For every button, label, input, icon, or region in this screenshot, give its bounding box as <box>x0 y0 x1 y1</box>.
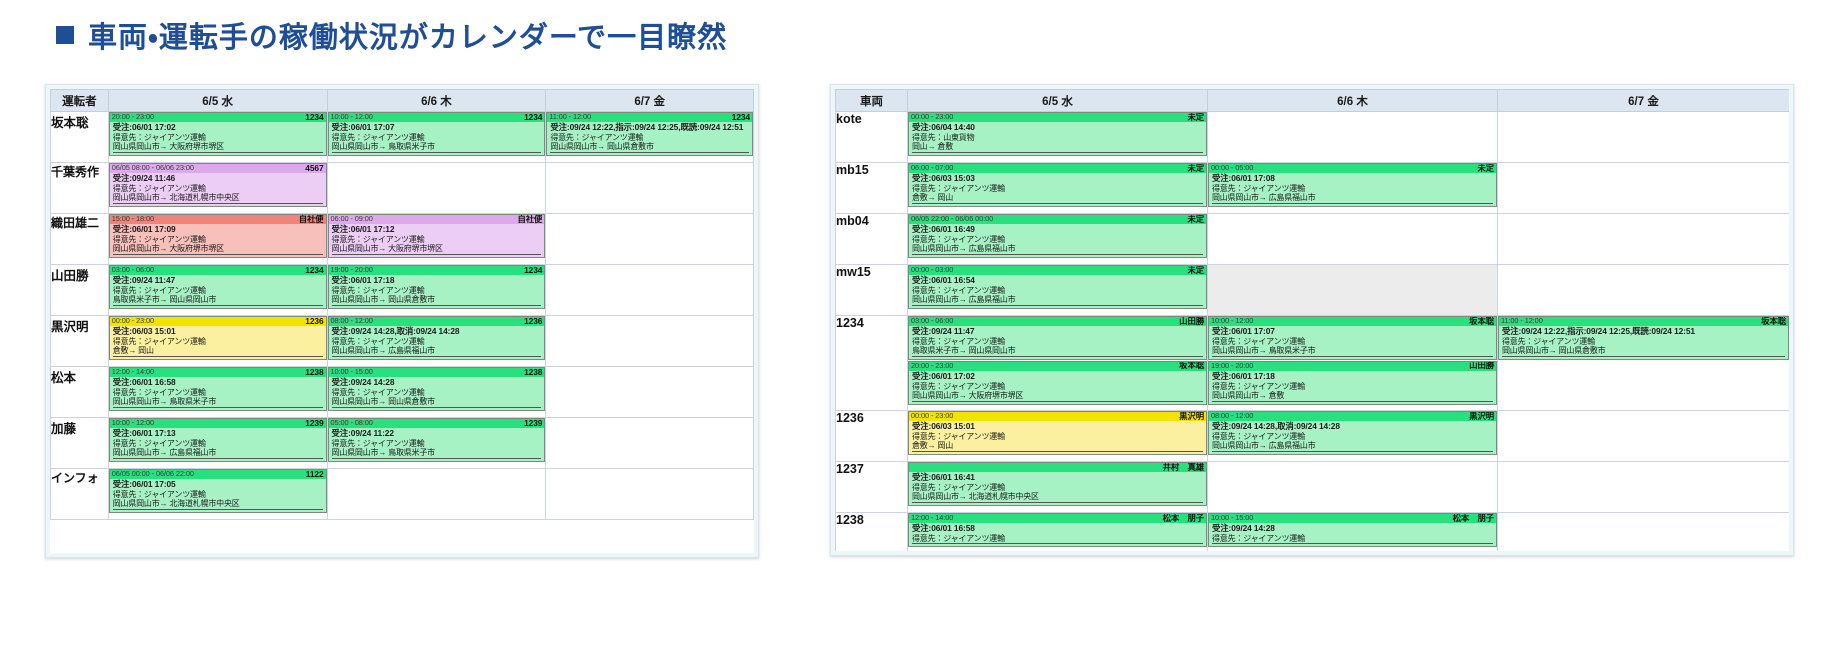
calendar-event[interactable]: 20:00 - 23:001234受注:06/01 17:02得意先：ジャイアン… <box>109 112 327 156</box>
vehicle-day-cell[interactable] <box>1208 214 1498 265</box>
event-body: 受注:09/24 14:28,取消:09/24 14:28得意先：ジャイアンツ運… <box>1209 421 1496 454</box>
event-order-info: 受注:09/24 12:22,指示:09/24 12:25,既読:09/24 1… <box>550 123 749 133</box>
event-route: 岡山県岡山市→ 岡山県倉敷市 <box>550 142 749 152</box>
event-header: 20:00 - 23:001234 <box>110 113 326 122</box>
event-body: 受注:06/01 16:49得意先：ジャイアンツ運輸岡山県岡山市→ 広島県福山市 <box>909 224 1206 257</box>
vehicle-day-cell[interactable] <box>1208 265 1498 316</box>
event-order-info: 受注:06/01 17:07 <box>1212 327 1493 337</box>
driver-day-cell[interactable]: 10:00 - 12:001234受注:06/01 17:07得意先：ジャイアン… <box>327 112 546 163</box>
event-body: 受注:06/01 17:13得意先：ジャイアンツ運輸岡山県岡山市→ 広島県福山市 <box>110 428 326 461</box>
calendar-event[interactable]: 03:00 - 06:001234受注:09/24 11:47得意先：ジャイアン… <box>109 265 327 309</box>
event-time-range: 06/05 00:00 - 06/06 22:00 <box>112 470 194 479</box>
event-body: 受注:06/01 16:58得意先：ジャイアンツ運輸岡山県岡山市→ 鳥取県米子市 <box>110 377 326 410</box>
event-customer: 得意先：ジャイアンツ運輸 <box>113 133 323 142</box>
event-body: 受注:09/24 14:28,取消:09/24 14:28得意先：ジャイアンツ運… <box>329 326 545 359</box>
event-route: 岡山県岡山市→ 岡山県倉敷市 <box>332 397 542 407</box>
driver-calendar-panel: 運転者 6/5 水 6/6 木 6/7 金 坂本聡20:00 - 23:0012… <box>45 84 759 558</box>
event-body: 受注:09/24 12:22,指示:09/24 12:25,既読:09/24 1… <box>1499 326 1788 359</box>
event-order-info: 受注:09/24 14:28 <box>1212 524 1493 534</box>
vehicle-day-cell[interactable]: 00:00 - 03:00未定受注:06/01 16:54得意先：ジャイアンツ運… <box>908 265 1208 316</box>
table-row[interactable]: 123600:00 - 23:00黒沢明受注:06/03 15:01得意先：ジャ… <box>836 411 1790 462</box>
event-order-info: 受注:06/01 16:58 <box>113 378 323 388</box>
driver-day-cell[interactable] <box>546 316 754 367</box>
vehicle-day-cell[interactable]: 00:00 - 05:00未定受注:06/01 17:08得意先：ジャイアンツ運… <box>1208 163 1498 214</box>
driver-name-cell[interactable]: 坂本聡 <box>51 112 109 163</box>
table-row[interactable]: 黒沢明00:00 - 23:001236受注:06/03 15:01得意先：ジャ… <box>51 316 754 367</box>
event-tag: 1236 <box>524 317 542 327</box>
calendar-event[interactable]: 10:00 - 12:00坂本聡受注:06/01 17:07得意先：ジャイアンツ… <box>1208 316 1497 360</box>
event-body: 受注:06/01 17:09得意先：ジャイアンツ運輸岡山県岡山市→ 大阪府堺市堺… <box>110 224 326 257</box>
event-tag: 4567 <box>305 164 323 174</box>
event-route: 岡山県岡山市→ 鳥取県米子市 <box>113 397 323 407</box>
driver-calendar-table: 運転者 6/5 水 6/6 木 6/7 金 坂本聡20:00 - 23:0012… <box>50 89 754 520</box>
event-customer: 得意先：ジャイアンツ運輸 <box>332 439 542 448</box>
event-route: 岡山県岡山市→ 広島県福山市 <box>912 244 1203 254</box>
event-header: 06:00 - 07:00未定 <box>909 164 1206 173</box>
event-header: 05:00 - 08:001239 <box>329 419 545 428</box>
event-body: 受注:06/01 17:08得意先：ジャイアンツ運輸岡山県岡山市→ 広島県福山市 <box>1209 173 1496 206</box>
calendar-event[interactable]: 06:00 - 09:00自社便受注:06/01 17:12得意先：ジャイアンツ… <box>328 214 546 258</box>
calendar-event[interactable]: 11:00 - 12:00坂本聡受注:09/24 12:22,指示:09/24 … <box>1498 316 1789 360</box>
event-route: 鳥取県米子市→ 岡山県岡山市 <box>912 346 1203 356</box>
calendar-event[interactable]: 10:00 - 12:001239受注:06/01 17:13得意先：ジャイアン… <box>109 418 327 462</box>
event-route: 岡山県岡山市→ 大阪府堺市堺区 <box>113 142 323 152</box>
table-row[interactable]: 加藤10:00 - 12:001239受注:06/01 17:13得意先：ジャイ… <box>51 418 754 469</box>
event-route: 岡山県岡山市→ 岡山県倉敷市 <box>1502 346 1785 356</box>
event-tag: 井村 真雄 <box>1163 463 1204 473</box>
calendar-event[interactable]: 05:00 - 08:001239受注:09/24 11:22得意先：ジャイアン… <box>328 418 546 462</box>
event-time-range: 10:00 - 12:00 <box>1211 317 1253 326</box>
event-order-info: 受注:09/24 11:46 <box>113 174 323 184</box>
vehicle-table-header-row: 車両 6/5 水 6/6 木 6/7 金 <box>836 90 1790 112</box>
event-route: 岡山県岡山市→ 広島県福山市 <box>113 448 323 458</box>
event-route: 岡山県岡山市→ 広島県福山市 <box>332 346 542 356</box>
driver-day-cell[interactable]: 06/05 08:00 - 06/06 23:004567受注:09/24 11… <box>108 163 327 214</box>
event-customer: 得意先：ジャイアンツ運輸 <box>912 337 1203 346</box>
event-header: 12:00 - 14:001238 <box>110 368 326 377</box>
driver-table-body: 坂本聡20:00 - 23:001234受注:06/01 17:02得意先：ジャ… <box>51 112 754 520</box>
event-route: 岡山県岡山市→ 鳥取県米子市 <box>332 142 542 152</box>
event-order-info: 受注:06/03 15:03 <box>912 174 1203 184</box>
table-row[interactable]: 山田勝03:00 - 06:001234受注:09/24 11:47得意先：ジャ… <box>51 265 754 316</box>
calendar-event[interactable]: 06/05 08:00 - 06/06 23:004567受注:09/24 11… <box>109 163 327 207</box>
event-tag: 坂本聡 <box>1469 317 1494 327</box>
vehicle-name-cell[interactable]: mb15 <box>836 163 908 214</box>
calendar-event[interactable]: 11:00 - 12:001234受注:09/24 12:22,指示:09/24… <box>546 112 753 156</box>
table-row[interactable]: mb1506:00 - 07:00未定受注:06/03 15:03得意先：ジャイ… <box>836 163 1790 214</box>
calendar-event[interactable]: 06/05 22:00 - 06/06 00:00未定受注:06/01 16:4… <box>908 214 1207 258</box>
driver-name-cell[interactable]: 織田雄二 <box>51 214 109 265</box>
event-header: 10:00 - 15:001238 <box>329 368 545 377</box>
calendar-event[interactable]: 12:00 - 14:001238受注:06/01 16:58得意先：ジャイアン… <box>109 367 327 411</box>
event-order-info: 受注:06/01 17:07 <box>332 123 542 133</box>
driver-name-cell[interactable]: 山田勝 <box>51 265 109 316</box>
driver-col-header-driver[interactable]: 運転者 <box>51 90 109 112</box>
vehicle-col-header-day1[interactable]: 6/5 水 <box>908 90 1208 112</box>
table-row[interactable]: 松本12:00 - 14:001238受注:06/01 16:58得意先：ジャイ… <box>51 367 754 418</box>
event-time-range: 20:00 - 23:00 <box>911 362 953 371</box>
event-body: 受注:06/01 17:02得意先：ジャイアンツ運輸岡山県岡山市→ 大阪府堺市堺… <box>909 371 1206 404</box>
page-title: 車両・運転手の稼働状況がカレンダーで一目瞭然 <box>56 14 727 56</box>
event-header: 19:00 - 20:00山田勝 <box>1209 362 1496 371</box>
event-route: 岡山県岡山市→ 大阪府堺市堺区 <box>332 244 542 254</box>
driver-day-cell[interactable] <box>327 469 546 520</box>
event-tag: 自社便 <box>299 215 324 225</box>
event-tag: 山田勝 <box>1179 317 1204 327</box>
calendar-event[interactable]: 06:00 - 07:00未定受注:06/03 15:03得意先：ジャイアンツ運… <box>908 163 1207 207</box>
event-route: 岡山県岡山市→ 岡山県倉敷市 <box>332 295 542 305</box>
calendar-event[interactable]: 08:00 - 12:001236受注:09/24 14:28,取消:09/24… <box>328 316 546 360</box>
event-route: 岡山県岡山市→ 広島県福山市 <box>1212 193 1493 203</box>
vehicle-day-cell[interactable] <box>1498 462 1790 513</box>
event-body: 受注:06/03 15:01得意先：ジャイアンツ運輸倉敷→ 岡山 <box>110 326 326 359</box>
event-tag: 1236 <box>305 317 323 327</box>
vehicle-day-cell[interactable]: 06:00 - 07:00未定受注:06/03 15:03得意先：ジャイアンツ運… <box>908 163 1208 214</box>
vehicle-day-cell[interactable] <box>1498 112 1790 163</box>
event-body: 受注:09/24 11:46得意先：ジャイアンツ運輸岡山県岡山市→ 北海道札幌市… <box>110 173 326 206</box>
event-tag: 1234 <box>524 113 542 123</box>
event-route: 岡山県岡山市→ 北海道札幌市中央区 <box>113 499 323 509</box>
event-time-range: 06:00 - 07:00 <box>911 164 953 173</box>
event-header: 06:00 - 09:00自社便 <box>329 215 545 224</box>
vehicle-day-cell[interactable] <box>1498 214 1790 265</box>
event-body: 受注:06/04 14:40得意先：山東貨物岡山→ 倉敷 <box>909 122 1206 155</box>
event-order-info: 受注:06/01 17:13 <box>113 429 323 439</box>
calendar-event[interactable]: 03:00 - 06:00山田勝受注:09/24 11:47得意先：ジャイアンツ… <box>908 316 1207 360</box>
event-time-range: 12:00 - 14:00 <box>911 514 953 523</box>
vehicle-table-body: kote00:00 - 23:00未定受注:06/04 14:40得意先：山東貨… <box>836 112 1790 552</box>
table-row[interactable]: mb0406/05 22:00 - 06/06 00:00未定受注:06/01 … <box>836 214 1790 265</box>
driver-name-cell[interactable]: 千葉秀作 <box>51 163 109 214</box>
calendar-event[interactable]: 19:00 - 20:001234受注:06/01 17:18得意先：ジャイアン… <box>328 265 546 309</box>
event-customer: 得意先：ジャイアンツ運輸 <box>1212 184 1493 193</box>
event-order-info: 受注:06/03 15:01 <box>113 327 323 337</box>
table-row[interactable]: 123403:00 - 06:00山田勝受注:09/24 11:47得意先：ジャ… <box>836 316 1790 411</box>
vehicle-name-cell[interactable]: kote <box>836 112 908 163</box>
event-tag: 1234 <box>305 113 323 123</box>
vehicle-day-cell[interactable]: 08:00 - 12:00黒沢明受注:09/24 14:28,取消:09/24 … <box>1208 411 1498 462</box>
event-header: 10:00 - 12:001234 <box>329 113 545 122</box>
event-route: 岡山県岡山市→ 広島県福山市 <box>912 295 1203 305</box>
event-time-range: 03:00 - 06:00 <box>911 317 953 326</box>
event-header: 08:00 - 12:001236 <box>329 317 545 326</box>
page-title-text: 車両・運転手の稼働状況がカレンダーで一目瞭然 <box>88 14 727 56</box>
event-body: 受注:06/01 16:58得意先：ジャイアンツ運輸 <box>909 523 1206 546</box>
event-time-range: 19:00 - 20:00 <box>331 266 373 275</box>
event-order-info: 受注:06/01 17:09 <box>113 225 323 235</box>
driver-day-cell[interactable] <box>546 469 754 520</box>
event-body: 受注:06/01 16:41得意先：ジャイアンツ運輸岡山県岡山市→ 北海道札幌市… <box>909 472 1206 505</box>
event-customer: 得意先：ジャイアンツ運輸 <box>1502 337 1785 346</box>
driver-day-cell[interactable]: 10:00 - 12:001239受注:06/01 17:13得意先：ジャイアン… <box>108 418 327 469</box>
event-body: 受注:06/01 17:07得意先：ジャイアンツ運輸岡山県岡山市→ 鳥取県米子市 <box>1209 326 1496 359</box>
event-route: 岡山県岡山市→ 北海道札幌市中央区 <box>113 193 323 203</box>
event-time-range: 10:00 - 15:00 <box>331 368 373 377</box>
event-body: 受注:09/24 11:22得意先：ジャイアンツ運輸岡山県岡山市→ 鳥取県米子市 <box>329 428 545 461</box>
table-row[interactable]: 織田雄二15:00 - 18:00自社便受注:06/01 17:09得意先：ジャ… <box>51 214 754 265</box>
driver-day-cell[interactable]: 10:00 - 15:001238受注:09/24 14:28得意先：ジャイアン… <box>327 367 546 418</box>
event-time-range: 06:00 - 09:00 <box>331 215 373 224</box>
event-time-range: 03:00 - 06:00 <box>112 266 154 275</box>
event-header: 10:00 - 15:00松本 朋子 <box>1209 514 1496 523</box>
event-body: 受注:09/24 11:47得意先：ジャイアンツ運輸鳥取県米子市→ 岡山県岡山市 <box>110 275 326 308</box>
table-row[interactable]: 坂本聡20:00 - 23:001234受注:06/01 17:02得意先：ジャ… <box>51 112 754 163</box>
event-customer: 得意先：ジャイアンツ運輸 <box>912 286 1203 295</box>
driver-name-cell[interactable]: 加藤 <box>51 418 109 469</box>
driver-day-cell[interactable]: 06/05 00:00 - 06/06 22:001122受注:06/01 17… <box>108 469 327 520</box>
calendar-event[interactable]: 井村 真雄受注:06/01 16:41得意先：ジャイアンツ運輸岡山県岡山市→ 北… <box>908 462 1207 506</box>
event-header: 12:00 - 14:00松本 朋子 <box>909 514 1206 523</box>
event-body: 受注:09/24 12:22,指示:09/24 12:25,既読:09/24 1… <box>547 122 752 155</box>
vehicle-day-cell[interactable] <box>1208 112 1498 163</box>
event-route: 倉敷→ 岡山 <box>912 441 1203 451</box>
vehicle-day-cell[interactable] <box>1498 513 1790 552</box>
event-time-range: 00:00 - 23:00 <box>112 317 154 326</box>
event-customer: 得意先：ジャイアンツ運輸 <box>550 133 749 142</box>
vehicle-day-cell[interactable]: 00:00 - 23:00黒沢明受注:06/03 15:01得意先：ジャイアンツ… <box>908 411 1208 462</box>
event-tag: 未定 <box>1187 113 1204 123</box>
vehicle-day-cell[interactable]: 00:00 - 23:00未定受注:06/04 14:40得意先：山東貨物岡山→… <box>908 112 1208 163</box>
event-order-info: 受注:06/01 17:18 <box>1212 372 1493 382</box>
event-tag: 自社便 <box>518 215 543 225</box>
event-order-info: 受注:06/01 16:49 <box>912 225 1203 235</box>
event-route: 倉敷→ 岡山 <box>113 346 323 356</box>
event-header: 00:00 - 05:00未定 <box>1209 164 1496 173</box>
event-customer: 得意先：ジャイアンツ運輸 <box>113 439 323 448</box>
vehicle-calendar-panel: 車両 6/5 水 6/6 木 6/7 金 kote00:00 - 23:00未定… <box>830 84 1794 556</box>
event-route: 岡山県岡山市→ 北海道札幌市中央区 <box>912 492 1203 502</box>
calendar-event[interactable]: 08:00 - 12:00黒沢明受注:09/24 14:28,取消:09/24 … <box>1208 411 1497 455</box>
driver-col-header-day2[interactable]: 6/6 木 <box>327 90 546 112</box>
event-time-range: 06/05 22:00 - 06/06 00:00 <box>911 215 993 224</box>
event-time-range: 10:00 - 12:00 <box>331 113 373 122</box>
event-tag: 1234 <box>305 266 323 276</box>
event-order-info: 受注:06/01 16:58 <box>912 524 1203 534</box>
calendar-event[interactable]: 10:00 - 15:001238受注:09/24 14:28得意先：ジャイアン… <box>328 367 546 411</box>
calendar-event[interactable]: 00:00 - 23:00未定受注:06/04 14:40得意先：山東貨物岡山→… <box>908 112 1207 156</box>
event-header: 00:00 - 23:00未定 <box>909 113 1206 122</box>
calendar-event[interactable]: 10:00 - 15:00松本 朋子受注:09/24 14:28得意先：ジャイア… <box>1208 513 1497 547</box>
event-tag: 1239 <box>305 419 323 429</box>
event-order-info: 受注:06/03 15:01 <box>912 422 1203 432</box>
event-route <box>1212 543 1493 544</box>
vehicle-day-cell[interactable] <box>1498 163 1790 214</box>
event-customer: 得意先：ジャイアンツ運輸 <box>113 286 323 295</box>
vehicle-day-cell[interactable] <box>1498 265 1790 316</box>
event-order-info: 受注:06/01 16:54 <box>912 276 1203 286</box>
event-body: 受注:06/01 17:02得意先：ジャイアンツ運輸岡山県岡山市→ 大阪府堺市堺… <box>110 122 326 155</box>
vehicle-day-cell[interactable]: 12:00 - 14:00松本 朋子受注:06/01 16:58得意先：ジャイア… <box>908 513 1208 552</box>
driver-day-cell[interactable]: 00:00 - 23:001236受注:06/03 15:01得意先：ジャイアン… <box>108 316 327 367</box>
bullet-square-icon <box>56 26 74 44</box>
event-customer: 得意先：ジャイアンツ運輸 <box>912 235 1203 244</box>
event-customer: 得意先：ジャイアンツ運輸 <box>113 184 323 193</box>
event-customer: 得意先：ジャイアンツ運輸 <box>912 483 1203 492</box>
event-customer: 得意先：ジャイアンツ運輸 <box>1212 432 1493 441</box>
calendar-event[interactable]: 10:00 - 12:001234受注:06/01 17:07得意先：ジャイアン… <box>328 112 546 156</box>
event-header: 15:00 - 18:00自社便 <box>110 215 326 224</box>
event-tag: 坂本聡 <box>1179 361 1204 371</box>
table-row[interactable]: インフォ06/05 00:00 - 06/06 22:001122受注:06/0… <box>51 469 754 520</box>
event-time-range: 05:00 - 08:00 <box>331 419 373 428</box>
event-header: 00:00 - 23:00黒沢明 <box>909 412 1206 421</box>
calendar-event[interactable]: 15:00 - 18:00自社便受注:06/01 17:09得意先：ジャイアンツ… <box>109 214 327 258</box>
event-tag: 未定 <box>1477 164 1494 174</box>
vehicle-day-cell[interactable]: 03:00 - 06:00山田勝受注:09/24 11:47得意先：ジャイアンツ… <box>908 316 1208 411</box>
event-header: 10:00 - 12:001239 <box>110 419 326 428</box>
event-body: 受注:09/24 14:28得意先：ジャイアンツ運輸岡山県岡山市→ 岡山県倉敷市 <box>329 377 545 410</box>
driver-day-cell[interactable] <box>546 418 754 469</box>
event-order-info: 受注:06/01 17:02 <box>113 123 323 133</box>
event-order-info: 受注:06/01 17:18 <box>332 276 542 286</box>
event-header: 11:00 - 12:00坂本聡 <box>1499 317 1788 326</box>
event-time-range: 00:00 - 23:00 <box>911 113 953 122</box>
vehicle-day-cell[interactable]: 11:00 - 12:00坂本聡受注:09/24 12:22,指示:09/24 … <box>1498 316 1790 411</box>
event-tag: 坂本聡 <box>1761 317 1786 327</box>
calendar-event[interactable]: 00:00 - 05:00未定受注:06/01 17:08得意先：ジャイアンツ運… <box>1208 163 1497 207</box>
vehicle-col-header-day3[interactable]: 6/7 金 <box>1498 90 1790 112</box>
event-order-info: 受注:06/04 14:40 <box>912 123 1203 133</box>
table-row[interactable]: mw1500:00 - 03:00未定受注:06/01 16:54得意先：ジャイ… <box>836 265 1790 316</box>
event-route: 倉敷→ 岡山 <box>912 193 1203 203</box>
event-header: 06/05 00:00 - 06/06 22:001122 <box>110 470 326 479</box>
event-tag: 山田勝 <box>1469 361 1494 371</box>
calendar-event[interactable]: 00:00 - 03:00未定受注:06/01 16:54得意先：ジャイアンツ運… <box>908 265 1207 309</box>
event-customer: 得意先：ジャイアンツ運輸 <box>332 286 542 295</box>
driver-day-cell[interactable]: 12:00 - 14:001238受注:06/01 16:58得意先：ジャイアン… <box>108 367 327 418</box>
vehicle-name-cell[interactable]: 1237 <box>836 462 908 513</box>
driver-day-cell[interactable]: 11:00 - 12:001234受注:09/24 12:22,指示:09/24… <box>546 112 754 163</box>
calendar-event[interactable]: 12:00 - 14:00松本 朋子受注:06/01 16:58得意先：ジャイア… <box>908 513 1207 547</box>
event-header: 06/05 22:00 - 06/06 00:00未定 <box>909 215 1206 224</box>
event-time-range: 10:00 - 12:00 <box>112 419 154 428</box>
event-customer: 得意先：ジャイアンツ運輸 <box>912 184 1203 193</box>
event-customer: 得意先：ジャイアンツ運輸 <box>113 388 323 397</box>
event-header: 08:00 - 12:00黒沢明 <box>1209 412 1496 421</box>
driver-day-cell[interactable]: 15:00 - 18:00自社便受注:06/01 17:09得意先：ジャイアンツ… <box>108 214 327 265</box>
event-route: 岡山県岡山市→ 倉敷 <box>1212 391 1493 401</box>
event-tag: 黒沢明 <box>1469 412 1494 422</box>
event-body: 受注:06/01 17:05得意先：ジャイアンツ運輸岡山県岡山市→ 北海道札幌市… <box>110 479 326 512</box>
vehicle-name-cell[interactable]: mb04 <box>836 214 908 265</box>
event-route: 岡山県岡山市→ 鳥取県米子市 <box>332 448 542 458</box>
calendar-event[interactable]: 00:00 - 23:001236受注:06/03 15:01得意先：ジャイアン… <box>109 316 327 360</box>
vehicle-day-cell[interactable] <box>1498 411 1790 462</box>
event-tag: 未定 <box>1187 215 1204 225</box>
event-customer: 得意先：ジャイアンツ運輸 <box>1212 337 1493 346</box>
driver-day-cell[interactable]: 06:00 - 09:00自社便受注:06/01 17:12得意先：ジャイアンツ… <box>327 214 546 265</box>
event-header: 03:00 - 06:001234 <box>110 266 326 275</box>
driver-day-cell[interactable] <box>546 367 754 418</box>
event-order-info: 受注:09/24 14:28,取消:09/24 14:28 <box>1212 422 1493 432</box>
vehicle-name-cell[interactable]: mw15 <box>836 265 908 316</box>
driver-day-cell[interactable] <box>546 265 754 316</box>
event-order-info: 受注:09/24 11:47 <box>912 327 1203 337</box>
event-customer: 得意先：ジャイアンツ運輸 <box>113 337 323 346</box>
event-body: 受注:09/24 14:28得意先：ジャイアンツ運輸 <box>1209 523 1496 546</box>
event-time-range: 10:00 - 15:00 <box>1211 514 1253 523</box>
vehicle-name-cell[interactable]: 1238 <box>836 513 908 552</box>
vehicle-col-header-vehicle[interactable]: 車両 <box>836 90 908 112</box>
driver-name-cell[interactable]: 松本 <box>51 367 109 418</box>
driver-day-cell[interactable]: 20:00 - 23:001234受注:06/01 17:02得意先：ジャイアン… <box>108 112 327 163</box>
driver-day-cell[interactable]: 19:00 - 20:001234受注:06/01 17:18得意先：ジャイアン… <box>327 265 546 316</box>
event-tag: 1238 <box>524 368 542 378</box>
event-customer: 得意先：ジャイアンツ運輸 <box>113 490 323 499</box>
calendar-event[interactable]: 00:00 - 23:00黒沢明受注:06/03 15:01得意先：ジャイアンツ… <box>908 411 1207 455</box>
vehicle-name-cell[interactable]: 1234 <box>836 316 908 411</box>
driver-col-header-day3[interactable]: 6/7 金 <box>546 90 754 112</box>
vehicle-name-cell[interactable]: 1236 <box>836 411 908 462</box>
calendar-event[interactable]: 19:00 - 20:00山田勝受注:06/01 17:18得意先：ジャイアンツ… <box>1208 361 1497 405</box>
table-row[interactable]: kote00:00 - 23:00未定受注:06/04 14:40得意先：山東貨… <box>836 112 1790 163</box>
event-tag: 1238 <box>305 368 323 378</box>
event-route: 岡山県岡山市→ 大阪府堺市堺区 <box>912 391 1203 401</box>
event-tag: 1239 <box>524 419 542 429</box>
event-body: 受注:06/01 17:18得意先：ジャイアンツ運輸岡山県岡山市→ 岡山県倉敷市 <box>329 275 545 308</box>
event-body: 受注:06/03 15:01得意先：ジャイアンツ運輸倉敷→ 岡山 <box>909 421 1206 454</box>
table-row[interactable]: 123812:00 - 14:00松本 朋子受注:06/01 16:58得意先：… <box>836 513 1790 552</box>
event-time-range: 06/05 08:00 - 06/06 23:00 <box>112 164 194 173</box>
table-row[interactable]: 千葉秀作06/05 08:00 - 06/06 23:004567受注:09/2… <box>51 163 754 214</box>
driver-day-cell[interactable] <box>327 163 546 214</box>
event-body: 受注:06/01 17:12得意先：ジャイアンツ運輸岡山県岡山市→ 大阪府堺市堺… <box>329 224 545 257</box>
event-header: 11:00 - 12:001234 <box>547 113 752 122</box>
driver-name-cell[interactable]: 黒沢明 <box>51 316 109 367</box>
vehicle-col-header-day2[interactable]: 6/6 木 <box>1208 90 1498 112</box>
vehicle-day-cell[interactable] <box>1208 462 1498 513</box>
event-tag: 松本 朋子 <box>1163 514 1204 524</box>
event-route: 岡山→ 倉敷 <box>912 142 1203 152</box>
driver-day-cell[interactable]: 08:00 - 12:001236受注:09/24 14:28,取消:09/24… <box>327 316 546 367</box>
event-customer: 得意先：ジャイアンツ運輸 <box>912 432 1203 441</box>
event-header: 03:00 - 06:00山田勝 <box>909 317 1206 326</box>
vehicle-day-cell[interactable]: 10:00 - 12:00坂本聡受注:06/01 17:07得意先：ジャイアンツ… <box>1208 316 1498 411</box>
event-time-range: 11:00 - 12:00 <box>549 113 591 122</box>
event-order-info: 受注:06/01 17:05 <box>113 480 323 490</box>
calendar-event[interactable]: 06/05 00:00 - 06/06 22:001122受注:06/01 17… <box>109 469 327 513</box>
event-body: 受注:06/01 16:54得意先：ジャイアンツ運輸岡山県岡山市→ 広島県福山市 <box>909 275 1206 308</box>
event-time-range: 08:00 - 12:00 <box>331 317 373 326</box>
event-tag: 未定 <box>1187 164 1204 174</box>
driver-day-cell[interactable]: 03:00 - 06:001234受注:09/24 11:47得意先：ジャイアン… <box>108 265 327 316</box>
event-body: 受注:06/01 17:07得意先：ジャイアンツ運輸岡山県岡山市→ 鳥取県米子市 <box>329 122 545 155</box>
event-time-range: 11:00 - 12:00 <box>1501 317 1543 326</box>
event-route <box>912 543 1203 544</box>
table-row[interactable]: 1237井村 真雄受注:06/01 16:41得意先：ジャイアンツ運輸岡山県岡山… <box>836 462 1790 513</box>
event-time-range: 00:00 - 23:00 <box>911 412 953 421</box>
calendar-event[interactable]: 20:00 - 23:00坂本聡受注:06/01 17:02得意先：ジャイアンツ… <box>908 361 1207 405</box>
driver-day-cell[interactable] <box>546 214 754 265</box>
event-order-info: 受注:09/24 12:22,指示:09/24 12:25,既読:09/24 1… <box>1502 327 1785 337</box>
event-order-info: 受注:09/24 14:28 <box>332 378 542 388</box>
vehicle-day-cell[interactable]: 10:00 - 15:00松本 朋子受注:09/24 14:28得意先：ジャイア… <box>1208 513 1498 552</box>
vehicle-day-cell[interactable]: 06/05 22:00 - 06/06 00:00未定受注:06/01 16:4… <box>908 214 1208 265</box>
event-body: 受注:09/24 11:47得意先：ジャイアンツ運輸鳥取県米子市→ 岡山県岡山市 <box>909 326 1206 359</box>
event-customer: 得意先：山東貨物 <box>912 133 1203 142</box>
event-body: 受注:06/01 17:18得意先：ジャイアンツ運輸岡山県岡山市→ 倉敷 <box>1209 371 1496 404</box>
event-customer: 得意先：ジャイアンツ運輸 <box>332 133 542 142</box>
driver-col-header-day1[interactable]: 6/5 水 <box>108 90 327 112</box>
event-tag: 1234 <box>524 266 542 276</box>
driver-day-cell[interactable]: 05:00 - 08:001239受注:09/24 11:22得意先：ジャイアン… <box>327 418 546 469</box>
event-time-range: 20:00 - 23:00 <box>112 113 154 122</box>
event-time-range: 19:00 - 20:00 <box>1211 362 1253 371</box>
driver-name-cell[interactable]: インフォ <box>51 469 109 520</box>
vehicle-day-cell[interactable]: 井村 真雄受注:06/01 16:41得意先：ジャイアンツ運輸岡山県岡山市→ 北… <box>908 462 1208 513</box>
driver-day-cell[interactable] <box>546 163 754 214</box>
event-header: 00:00 - 03:00未定 <box>909 266 1206 275</box>
